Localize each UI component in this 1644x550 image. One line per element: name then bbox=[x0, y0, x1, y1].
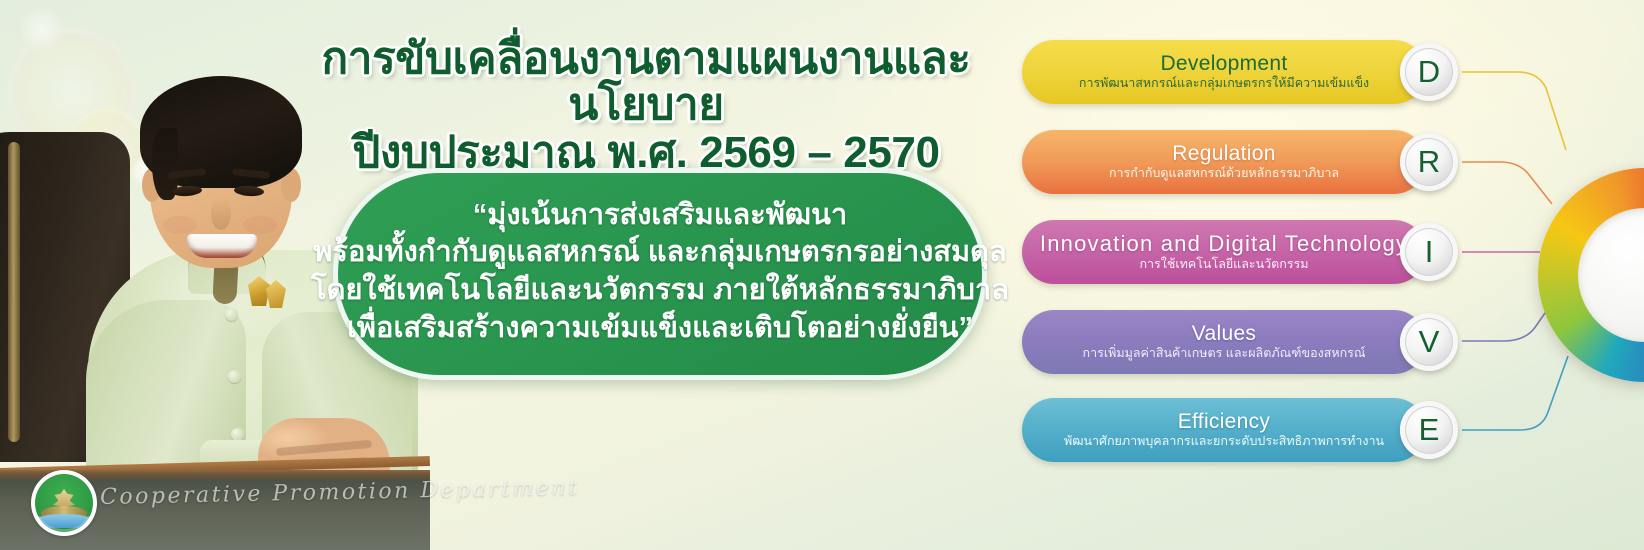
drive-letter-badge-d: D bbox=[1400, 43, 1458, 101]
quote-line-1: “มุ่งเน้นการส่งเสริมและพัฒนา bbox=[473, 197, 847, 235]
headline-line-1: การขับเคลื่อนงานตามแผนงานและนโยบาย bbox=[288, 36, 1004, 128]
drive-item-values[interactable]: Values การเพิ่มมูลค่าสินค้าเกษตร และผลิต… bbox=[1022, 310, 1482, 374]
drive-letter-i: I bbox=[1425, 236, 1434, 269]
seal-ring-text bbox=[35, 516, 93, 532]
drive-label-en: Innovation and Digital Technology bbox=[1040, 232, 1408, 255]
drive-letter-badge-r: R bbox=[1400, 133, 1458, 191]
quote-line-2: พร้อมทั้งกำกับดูแลสหกรณ์ และกลุ่มเกษตรกร… bbox=[313, 234, 1006, 272]
cheek bbox=[163, 216, 197, 234]
drive-label-th: พัฒนาศักยภาพบุคลากรและยกระดับประสิทธิภาพ… bbox=[1064, 434, 1384, 449]
drive-label-th: การกำกับดูแลสหกรณ์ด้วยหลักธรรมาภิบาล bbox=[1109, 166, 1339, 181]
page-title: การขับเคลื่อนงานตามแผนงานและนโยบาย ปีงบป… bbox=[288, 36, 1004, 175]
shirt-button bbox=[225, 308, 238, 321]
drive-letter-d: D bbox=[1418, 56, 1440, 89]
drive-letter-v: V bbox=[1419, 326, 1440, 359]
nose bbox=[211, 198, 231, 230]
seal-inner bbox=[35, 474, 93, 532]
drive-letter-r: R bbox=[1418, 146, 1440, 179]
drive-item-regulation[interactable]: Regulation การกำกับดูแลสหกรณ์ด้วยหลักธรร… bbox=[1022, 130, 1482, 194]
drive-item-innovation[interactable]: Innovation and Digital Technology การใช้… bbox=[1022, 220, 1482, 284]
banner-root: Cooperative Promotion Department การขับเ… bbox=[0, 0, 1644, 550]
drive-label-en: Development bbox=[1160, 53, 1287, 75]
shirt-button bbox=[228, 370, 241, 383]
drive-letter-badge-v: V bbox=[1400, 313, 1458, 371]
drive-label-th: การพัฒนาสหกรณ์และกลุ่มเกษตรกรให้มีความเข… bbox=[1079, 76, 1369, 91]
drive-strategy-list: Development การพัฒนาสหกรณ์และกลุ่มเกษตรก… bbox=[1022, 0, 1644, 550]
drive-letter-badge-i: I bbox=[1400, 223, 1458, 281]
chair-trim bbox=[8, 142, 20, 442]
drive-pill-innovation[interactable]: Innovation and Digital Technology การใช้… bbox=[1022, 220, 1426, 284]
drive-pill-development[interactable]: Development การพัฒนาสหกรณ์และกลุ่มเกษตรก… bbox=[1022, 40, 1426, 104]
quote-line-3: โดยใช้เทคโนโลยีและนวัตกรรม ภายใต้หลักธรร… bbox=[311, 272, 1009, 310]
drive-label-en: Values bbox=[1192, 323, 1256, 345]
drive-label-th: การเพิ่มมูลค่าสินค้าเกษตร และผลิตภัณฑ์ขอ… bbox=[1083, 346, 1366, 361]
drive-label-en: Regulation bbox=[1172, 143, 1275, 165]
drive-pill-efficiency[interactable]: Efficiency พัฒนาศักยภาพบุคลากรและยกระดับ… bbox=[1022, 398, 1426, 462]
cheek bbox=[243, 216, 277, 234]
cooperative-promotion-department-seal bbox=[31, 470, 97, 536]
vision-quote-bubble: “มุ่งเน้นการส่งเสริมและพัฒนา พร้อมทั้งกำ… bbox=[333, 168, 987, 380]
drive-letter-badge-e: E bbox=[1400, 401, 1458, 459]
drive-item-development[interactable]: Development การพัฒนาสหกรณ์และกลุ่มเกษตรก… bbox=[1022, 40, 1482, 104]
drive-label-en: Efficiency bbox=[1178, 411, 1271, 433]
drive-pill-regulation[interactable]: Regulation การกำกับดูแลสหกรณ์ด้วยหลักธรร… bbox=[1022, 130, 1426, 194]
hair bbox=[140, 76, 302, 188]
mouth bbox=[187, 234, 257, 258]
drive-pill-values[interactable]: Values การเพิ่มมูลค่าสินค้าเกษตร และผลิต… bbox=[1022, 310, 1426, 374]
quote-line-4: เพื่อเสริมสร้างความเข้มแข็งและเติบโตอย่า… bbox=[347, 310, 973, 348]
drive-item-efficiency[interactable]: Efficiency พัฒนาศักยภาพบุคลากรและยกระดับ… bbox=[1022, 398, 1482, 462]
drive-letter-e: E bbox=[1419, 414, 1440, 447]
drive-label-th: การใช้เทคโนโลยีและนวัตกรรม bbox=[1139, 257, 1308, 272]
